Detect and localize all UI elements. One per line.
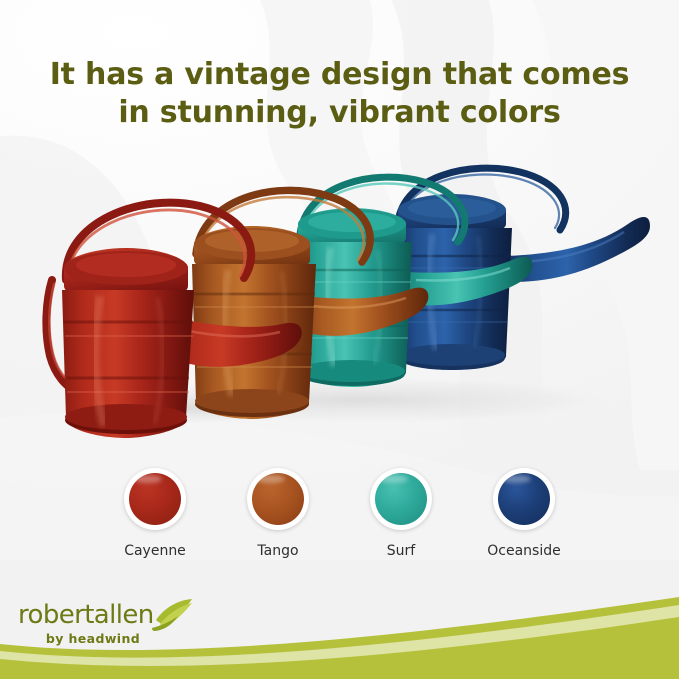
swatch-color-tango <box>252 473 304 525</box>
headline: It has a vintage design that comes in st… <box>0 56 679 132</box>
swatch-color-surf <box>375 473 427 525</box>
swatch-disc-oceanside <box>493 468 555 530</box>
swatch-disc-tango <box>247 468 309 530</box>
brand-logo[interactable]: robertallen by headwind <box>18 602 208 650</box>
watering-cans-photo <box>0 150 679 450</box>
leaf-icon <box>150 598 196 632</box>
swatch-oceanside[interactable]: Oceanside <box>477 468 572 559</box>
swatch-label-tango: Tango <box>257 543 298 559</box>
brand-tagline: by headwind <box>18 631 168 646</box>
swatch-label-surf: Surf <box>387 543 415 559</box>
swatch-cayenne[interactable]: Cayenne <box>108 468 203 559</box>
swatch-disc-cayenne <box>124 468 186 530</box>
color-swatch-row: Cayenne Tango Surf Oceanside <box>0 468 679 559</box>
swatch-surf[interactable]: Surf <box>354 468 449 559</box>
swatch-label-cayenne: Cayenne <box>124 543 186 559</box>
swatch-disc-surf <box>370 468 432 530</box>
swatch-tango[interactable]: Tango <box>231 468 326 559</box>
swatch-label-oceanside: Oceanside <box>487 543 560 559</box>
headline-line-1: It has a vintage design that comes <box>50 57 630 92</box>
headline-line-2: in stunning, vibrant colors <box>0 94 679 132</box>
swatch-color-oceanside <box>498 473 550 525</box>
promo-image: It has a vintage design that comes in st… <box>0 0 679 679</box>
swatch-color-cayenne <box>129 473 181 525</box>
